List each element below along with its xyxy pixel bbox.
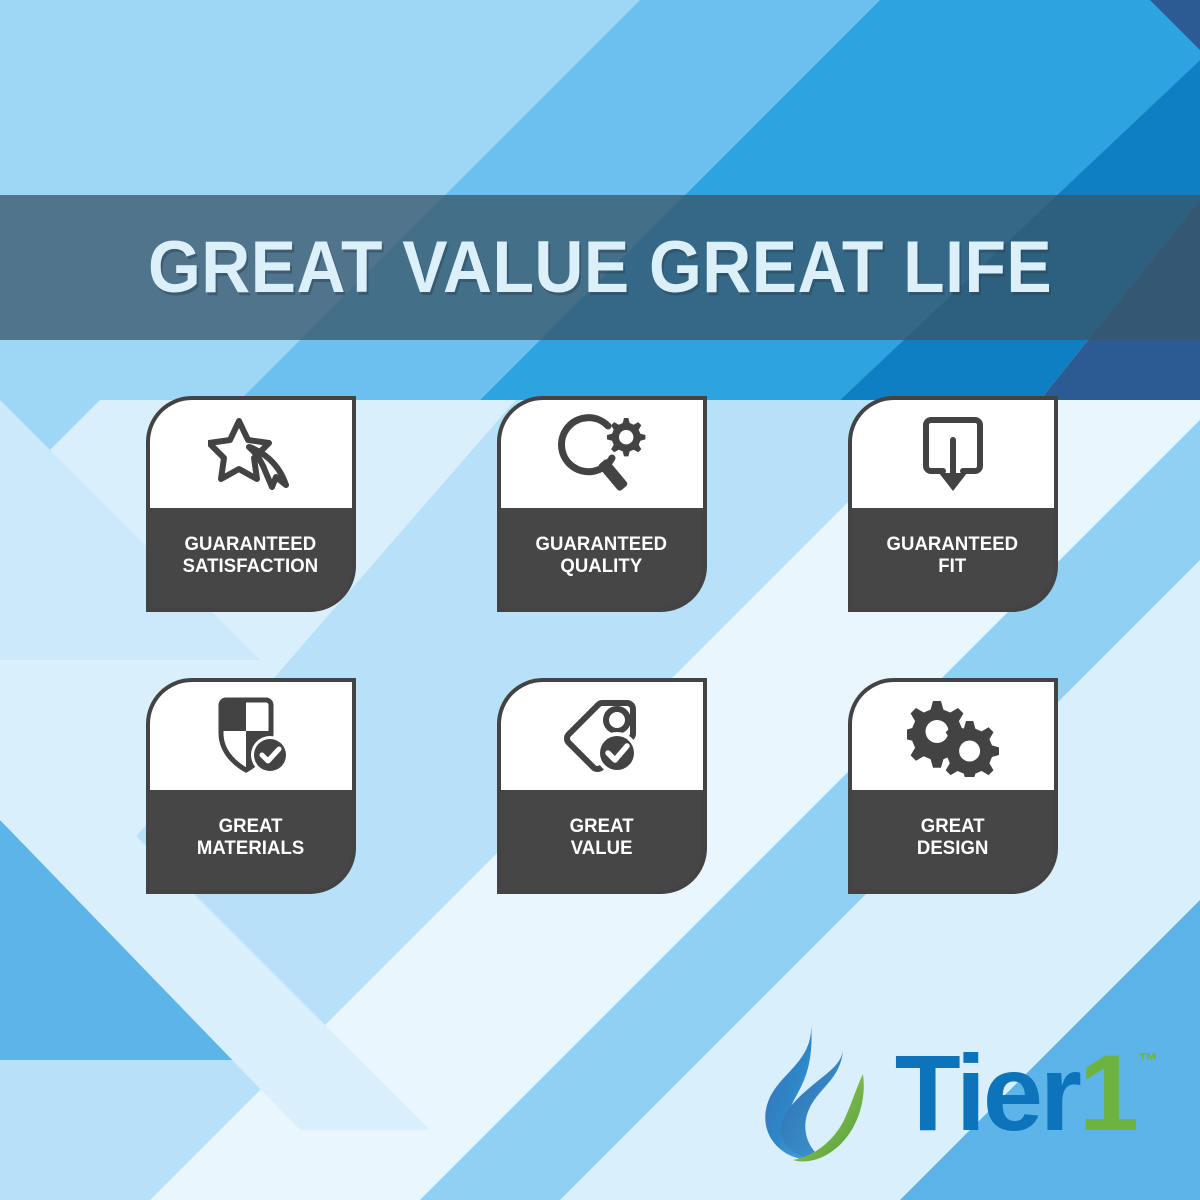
- magnifier-gear-icon: [556, 414, 648, 494]
- tier1-drop-leaf-mark: [749, 1020, 879, 1166]
- badge-icon-area: [501, 400, 703, 508]
- shield-check-icon: [209, 695, 293, 777]
- logo-name-primary: Tier: [895, 1044, 1079, 1141]
- badge-label-area: GUARANTEED FIT: [852, 508, 1054, 608]
- badge-guaranteed-satisfaction[interactable]: GUARANTEED SATISFACTION: [146, 396, 356, 612]
- badge-guaranteed-quality[interactable]: GUARANTEED QUALITY: [497, 396, 707, 612]
- badge-label: GUARANTEED QUALITY: [536, 533, 668, 577]
- badge-icon-area: [150, 682, 352, 790]
- price-tag-check-icon: [555, 695, 649, 777]
- two-gears-icon: [907, 695, 999, 777]
- badge-icon-area: [501, 682, 703, 790]
- badge-label-area: GREAT VALUE: [501, 790, 703, 890]
- badge-label-area: GUARANTEED QUALITY: [501, 508, 703, 608]
- badge-great-design[interactable]: GREAT DESIGN: [848, 678, 1058, 894]
- badge-label: GREAT MATERIALS: [197, 815, 305, 859]
- tier1-wordmark: Tier 1 ™: [895, 1044, 1158, 1141]
- headline-banner: GREAT VALUE GREAT LIFE: [0, 195, 1200, 340]
- badge-great-value[interactable]: GREAT VALUE: [497, 678, 707, 894]
- download-into-box-icon: [918, 413, 988, 495]
- badge-label: GREAT VALUE: [570, 815, 634, 859]
- badge-guaranteed-fit[interactable]: GUARANTEED FIT: [848, 396, 1058, 612]
- badge-icon-area: [150, 400, 352, 508]
- benefits-grid: GUARANTEED SATISFACTION GUARANTEED QUALI…: [0, 396, 1200, 894]
- badge-icon-area: [852, 400, 1054, 508]
- badge-label-area: GUARANTEED SATISFACTION: [150, 508, 352, 608]
- badge-icon-area: [852, 682, 1054, 790]
- badge-label: GUARANTEED SATISFACTION: [183, 533, 319, 577]
- badge-label-area: GREAT MATERIALS: [150, 790, 352, 890]
- badge-label: GUARANTEED FIT: [887, 533, 1019, 577]
- badge-great-materials[interactable]: GREAT MATERIALS: [146, 678, 356, 894]
- badge-label: GREAT DESIGN: [917, 815, 989, 859]
- trademark-symbol: ™: [1138, 1052, 1158, 1070]
- page-title: GREAT VALUE GREAT LIFE: [148, 231, 1052, 304]
- logo-name-accent: 1: [1079, 1044, 1136, 1141]
- shooting-star-icon: [208, 415, 294, 493]
- badge-label-area: GREAT DESIGN: [852, 790, 1054, 890]
- tier1-logo[interactable]: Tier 1 ™: [749, 1020, 1158, 1166]
